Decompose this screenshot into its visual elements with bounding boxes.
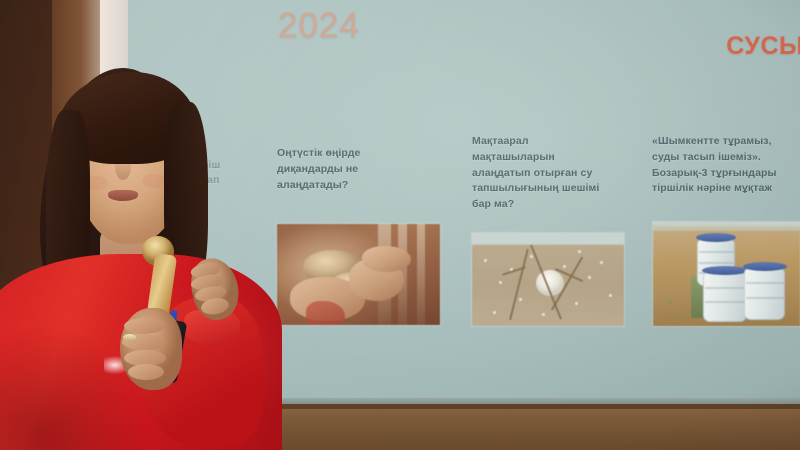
- slide-column-4: «Шымкентте тұрамыз, суды тасып ішеміз». …: [652, 134, 800, 197]
- slide-caption-4: «Шымкентте тұрамыз, суды тасып ішеміз». …: [652, 134, 800, 197]
- slide-year-label: 2024: [278, 6, 360, 46]
- slide-caption-3: Мақтаарал мақташыларын алаңдатып отырған…: [472, 134, 612, 213]
- speaker-person: [0, 58, 282, 450]
- finger-ring: [123, 334, 136, 341]
- hand-holding-microphone: [120, 308, 182, 390]
- cotton-field-photo: [472, 233, 624, 326]
- mouth: [108, 190, 138, 201]
- slide-column-2: Оңтүстік өңірде диқандарды не алаңдатады…: [277, 146, 402, 193]
- presentation-scene: 2024 СУСЫ: [0, 0, 800, 450]
- slide-column-3: Мақтаарал мақташыларын алаңдатып отырған…: [472, 134, 612, 213]
- slide-caption-2: Оңтүстік өңірде диқандарды не алаңдатады…: [277, 146, 402, 193]
- hands-holding-produce-photo: [277, 224, 440, 325]
- water-barrels-photo: [653, 222, 800, 326]
- slide-title: СУСЫ: [726, 32, 800, 61]
